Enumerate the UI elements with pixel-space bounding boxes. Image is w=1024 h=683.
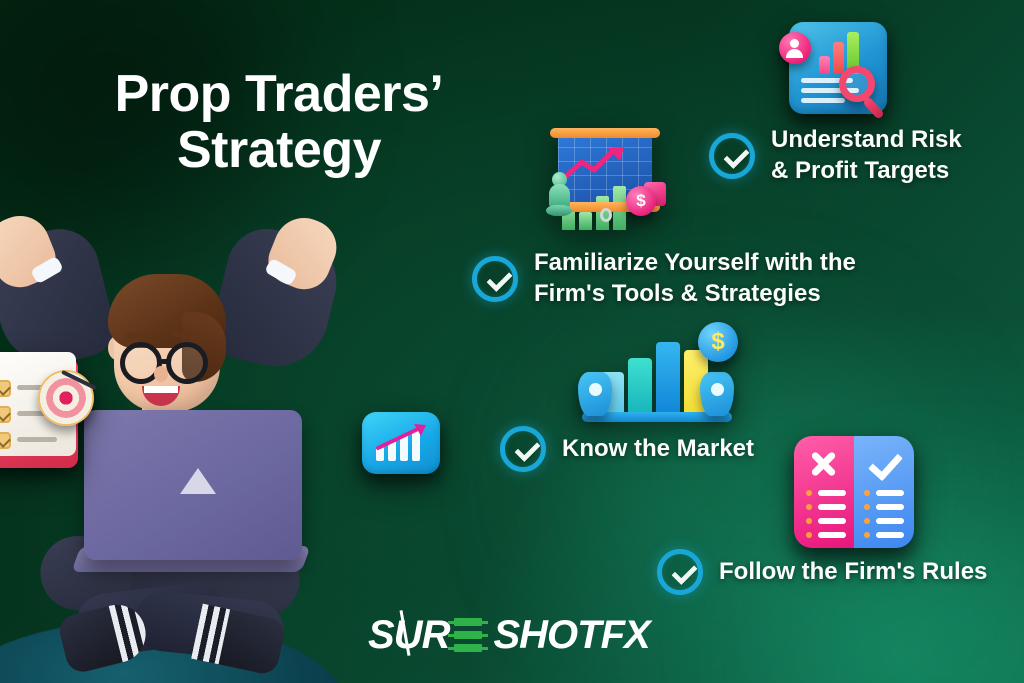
clipboard-line-3 — [17, 437, 57, 442]
market-bar-2 — [628, 358, 652, 414]
check-icon — [868, 450, 898, 480]
bullet-familiarize-tools[interactable]: Familiarize Yourself with the Firm's Too… — [472, 248, 856, 309]
character-glasses-bridge — [161, 359, 171, 364]
candlestick-letter-e — [452, 615, 490, 655]
bullet-follow-firm-rules[interactable]: Follow the Firm's Rules — [657, 549, 987, 595]
page-title-line-2: Strategy — [64, 122, 494, 178]
bullet-understand-risk[interactable]: Understand Risk & Profit Targets — [709, 125, 962, 186]
location-pin-icon-left — [578, 372, 612, 416]
magnifier-icon — [839, 66, 875, 102]
cross-icon — [808, 450, 838, 480]
location-pin-icon-right — [700, 372, 734, 416]
sureshotfx-logo[interactable]: SUR SHOTFX — [368, 612, 650, 658]
uptrend-arrow-icon — [564, 146, 630, 180]
tile-arrow-icon — [374, 422, 430, 452]
clipboard-checkbox-2 — [0, 406, 11, 423]
page-title-line-1: Prop Traders’ — [64, 66, 494, 122]
dollar-globe-icon: $ — [698, 322, 738, 362]
clipboard-checkbox-1 — [0, 380, 11, 397]
page-title: Prop Traders’ Strategy — [64, 66, 494, 178]
laptop-illustration — [84, 410, 302, 560]
board-bar-2 — [579, 212, 592, 230]
logo-text-part-1: SUR — [368, 615, 449, 655]
dartboard-icon — [38, 370, 94, 426]
presentation-board-3d-icon: $ — [540, 124, 670, 234]
report-analysis-3d-icon — [775, 14, 903, 126]
check-circle-icon — [657, 549, 703, 595]
infographic-canvas: Prop Traders’ Strategy $ — [0, 0, 1024, 683]
bullet-label-familiarize-tools: Familiarize Yourself with the Firm's Too… — [534, 248, 856, 309]
bullet-know-the-market[interactable]: Know the Market — [500, 426, 754, 472]
report-bar-2 — [833, 42, 844, 74]
laptop-logo-triangle — [180, 468, 216, 494]
board-top-frame — [550, 128, 660, 138]
dollar-coin-icon: $ — [626, 186, 656, 216]
check-circle-icon — [500, 426, 546, 472]
rules-card-shell — [794, 436, 914, 548]
market-bar-3 — [656, 342, 680, 414]
growth-chart-tile-icon — [362, 412, 440, 474]
clipboard-checkbox-3 — [0, 432, 11, 449]
bullet-label-understand-risk: Understand Risk & Profit Targets — [771, 125, 962, 186]
check-circle-icon — [472, 256, 518, 302]
report-text-line-3 — [801, 98, 845, 103]
report-bar-1 — [819, 56, 830, 74]
check-circle-icon — [709, 133, 755, 179]
character-glasses-right-lens — [166, 342, 208, 384]
market-bars-pins-3d-icon: $ — [572, 322, 744, 430]
board-hook — [600, 208, 612, 222]
bullet-label-follow-firm-rules: Follow the Firm's Rules — [719, 557, 987, 588]
character-nose — [154, 366, 168, 382]
logo-text-part-2: SHOTFX — [493, 615, 649, 655]
chess-pawn-icon — [546, 172, 572, 218]
user-avatar-icon — [779, 32, 811, 64]
bullet-label-know-the-market: Know the Market — [562, 434, 754, 465]
do-dont-checklist-3d-icon — [794, 436, 914, 548]
clipboard-target-3d-icon — [0, 352, 102, 480]
